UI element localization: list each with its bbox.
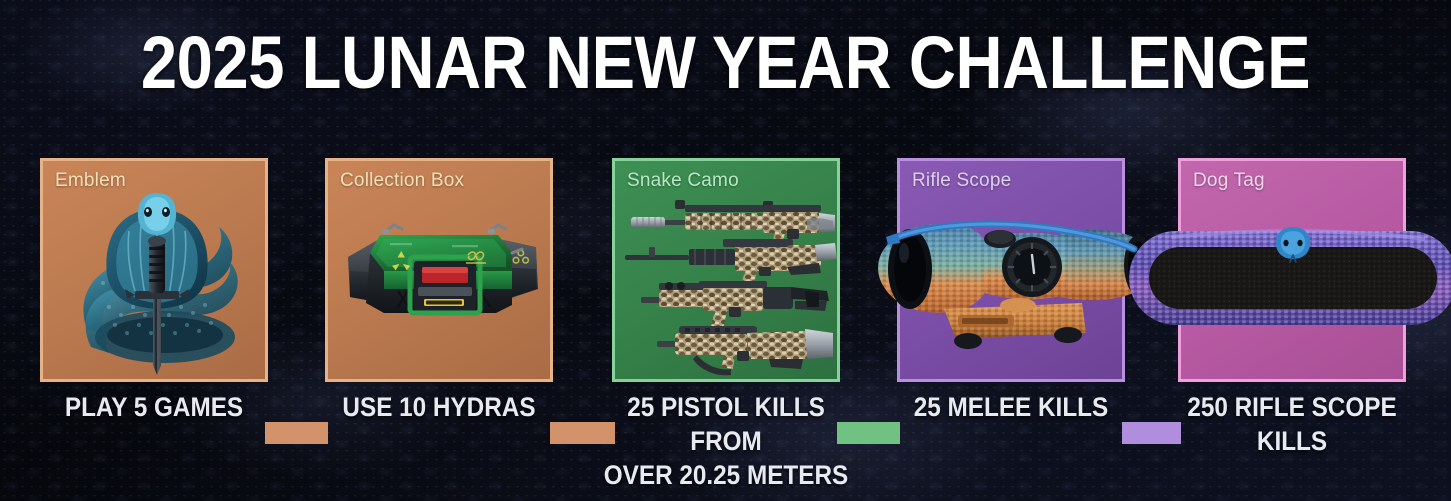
- reward-card-emblem[interactable]: Emblem: [40, 158, 268, 382]
- reward-card-dog-tag[interactable]: Dog Tag: [1178, 158, 1406, 382]
- rifle-scope-icon: [872, 197, 1158, 349]
- connector-1: [265, 422, 328, 444]
- requirement-line-2: OVER 20.25 METERS: [591, 458, 861, 492]
- dog-tag-icon: [1123, 225, 1451, 331]
- card-label: Dog Tag: [1193, 170, 1265, 192]
- card-label: Rifle Scope: [912, 170, 1011, 192]
- reward-card-snake-camo[interactable]: Snake Camo: [612, 158, 840, 382]
- page-title: 2025 LUNAR NEW YEAR CHALLENGE: [87, 24, 1364, 102]
- connector-4: [1122, 422, 1181, 444]
- requirement-line-1: USE 10 HYDRAS: [304, 390, 574, 424]
- snakeskin-rifles-icon: [619, 189, 839, 381]
- card-art-container: [328, 161, 550, 379]
- supply-crate-icon: [340, 209, 544, 329]
- card-label: Emblem: [55, 170, 126, 192]
- connector-3: [837, 422, 900, 444]
- card-art-container: [615, 161, 837, 379]
- card-art-container: [1181, 161, 1403, 379]
- reward-card-rifle-scope[interactable]: Rifle Scope: [897, 158, 1125, 382]
- requirement-line-1: PLAY 5 GAMES: [19, 390, 289, 424]
- requirement-text-3: 25 PISTOL KILLS FROM OVER 20.25 METERS: [591, 390, 861, 492]
- card-label: Snake Camo: [627, 170, 739, 192]
- reward-track: Emblem PLAY 5 GAMES: [0, 158, 1451, 388]
- requirement-text-1: PLAY 5 GAMES: [19, 390, 289, 424]
- requirement-line-1: 25 PISTOL KILLS FROM: [591, 390, 861, 458]
- requirement-text-5: 250 RIFLE SCOPE KILLS: [1157, 390, 1427, 458]
- requirement-line-1: 25 MELEE KILLS: [876, 390, 1146, 424]
- connector-2: [550, 422, 615, 444]
- cobra-snake-dagger-icon: [69, 179, 245, 375]
- card-label: Collection Box: [340, 170, 464, 192]
- reward-card-collection-box[interactable]: Collection Box: [325, 158, 553, 382]
- requirement-line-1: 250 RIFLE SCOPE KILLS: [1157, 390, 1427, 458]
- card-art-container: [900, 161, 1122, 379]
- card-art-container: [43, 161, 265, 379]
- requirement-text-4: 25 MELEE KILLS: [876, 390, 1146, 424]
- requirement-text-2: USE 10 HYDRAS: [304, 390, 574, 424]
